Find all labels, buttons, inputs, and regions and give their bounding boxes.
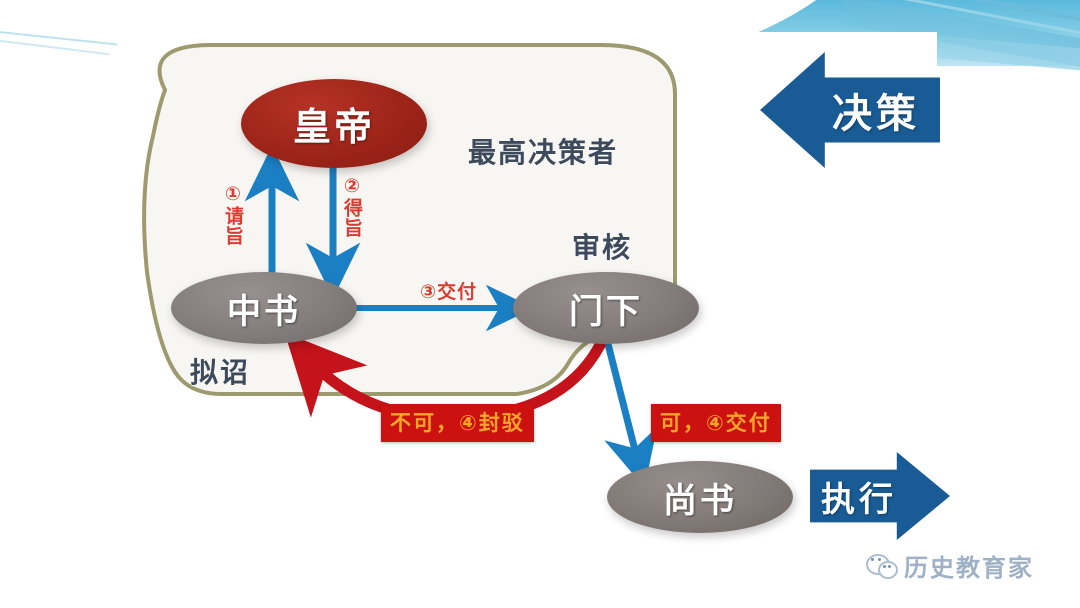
banner-arrow-decision-label: 决策 [832, 81, 920, 139]
caption-nizhao: 拟诏 [190, 351, 250, 391]
label-step3: ③交付 [420, 277, 477, 304]
caption-shenhe: 审核 [572, 226, 632, 266]
node-shangshu-label: 尚书 [663, 473, 737, 522]
banner-arrow-execution-label: 执行 [821, 472, 897, 521]
label-step2: ②得旨 [341, 175, 361, 238]
wechat-icon [866, 553, 896, 579]
node-zhongshu[interactable]: 中书 [171, 272, 357, 344]
node-menxia[interactable]: 门下 [513, 272, 699, 344]
slide-canvas: 皇帝 中书 门下 尚书 最高决策者 审核 拟诏 ①请旨 ②得旨 ③交付 不可，④… [0, 0, 1080, 608]
node-zhongshu-label: 中书 [227, 284, 301, 333]
label-step4-accept: 可，④交付 [651, 404, 781, 442]
label-step4-reject: 不可，④封驳 [381, 404, 534, 442]
caption-top-decider: 最高决策者 [468, 131, 618, 171]
watermark-label: 历史教育家 [904, 548, 1034, 583]
node-menxia-label: 门下 [569, 284, 643, 333]
node-emperor-label: 皇帝 [293, 96, 375, 151]
watermark: 历史教育家 [866, 548, 1034, 583]
node-emperor[interactable]: 皇帝 [241, 79, 427, 168]
node-shangshu[interactable]: 尚书 [607, 461, 793, 533]
label-step1: ①请旨 [222, 183, 242, 246]
